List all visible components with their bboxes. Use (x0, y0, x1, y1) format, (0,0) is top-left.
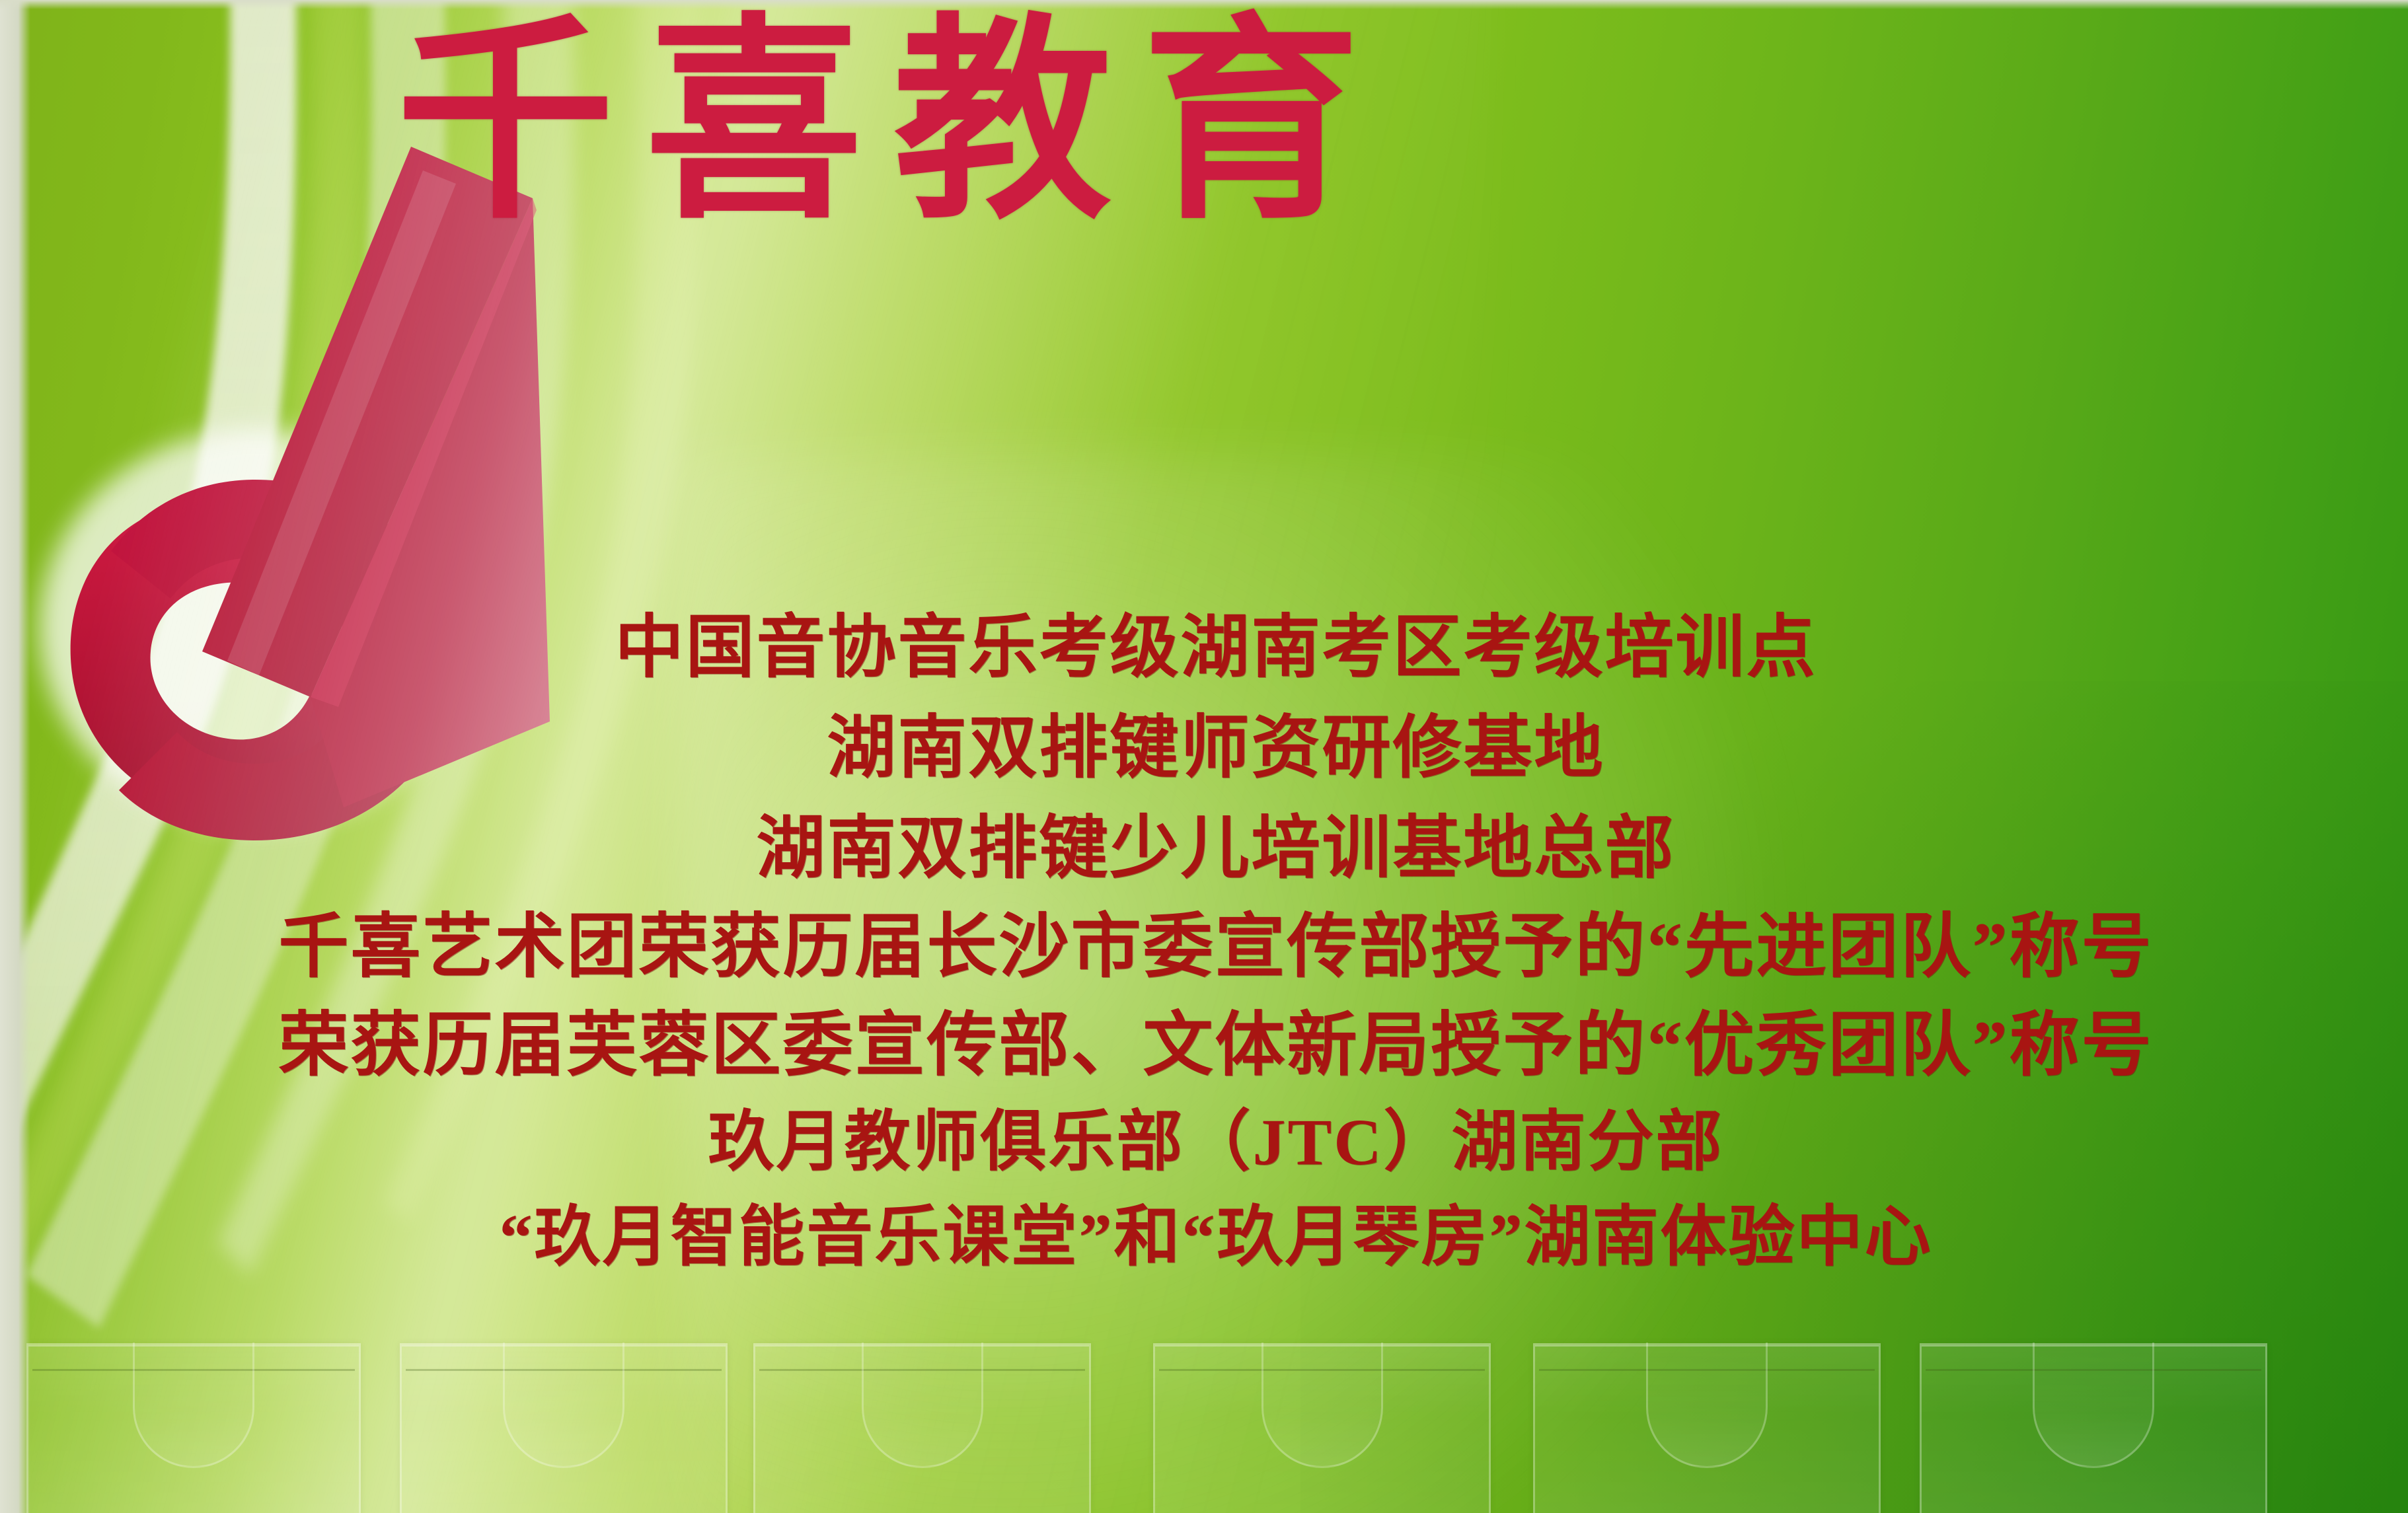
page-title: 千喜教育 (396, 12, 2049, 237)
credentials-block: 中国音协音乐考级湖南考区考级培训点 湖南双排键师资研修基地 湖南双排键少儿培训基… (238, 598, 2194, 1285)
credential-line: 湖南双排键师资研修基地 (238, 698, 2194, 799)
signboard-photo: 千喜教育 中国音协音乐考级湖南考区考级培训点 湖南双排键师资研修基地 湖南双排键… (0, 0, 2408, 1513)
credential-line: “玖月智能音乐课堂”和“玖月琴房”湖南体验中心 (238, 1190, 2194, 1285)
credential-line: 玖月教师俱乐部（JTC）湖南分部 (238, 1095, 2194, 1190)
credential-line: 中国音协音乐考级湖南考区考级培训点 (238, 598, 2194, 698)
credential-line: 荣获历届芙蓉区委宣传部、文体新局授予的“优秀团队”称号 (238, 997, 2194, 1095)
credential-line: 湖南双排键少儿培训基地总部 (238, 799, 2194, 899)
credential-line: 千喜艺术团荣获历届长沙市委宣传部授予的“先进团队”称号 (238, 899, 2194, 996)
